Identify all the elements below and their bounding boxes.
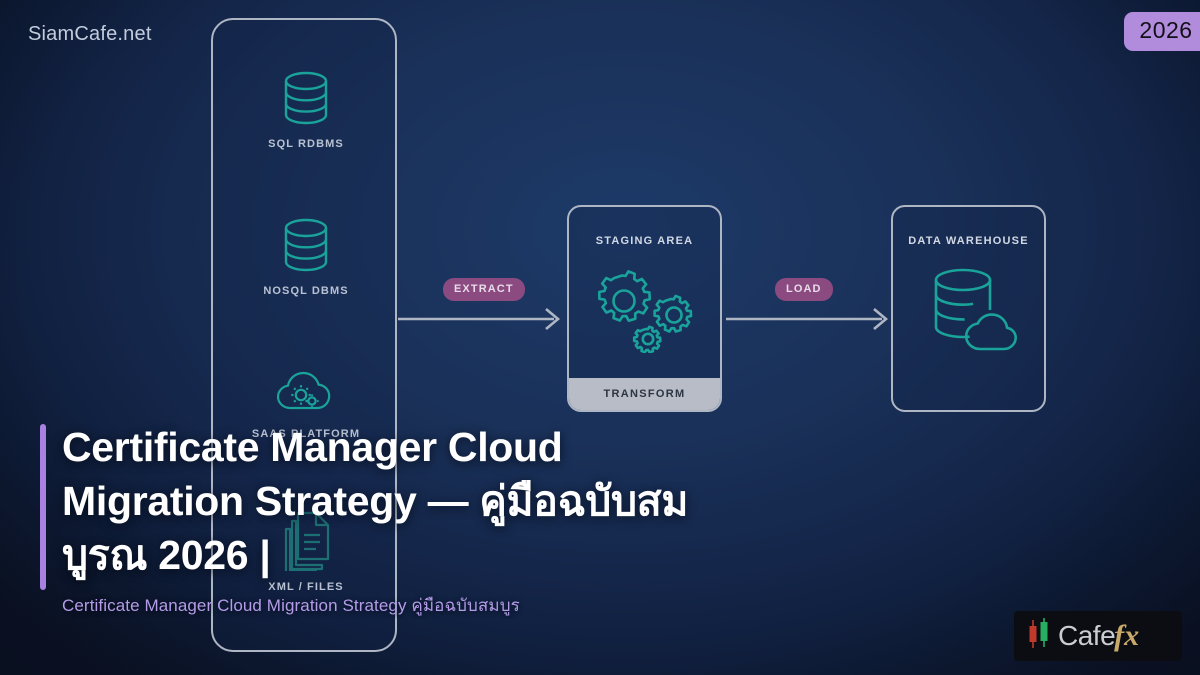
staging-area-panel: STAGING AREA TRANSFORM (567, 205, 722, 412)
gears-icon (569, 261, 720, 358)
brand-logo[interactable]: Cafe fx (1014, 611, 1182, 661)
source-item-nosql: NOSQL DBMS (213, 215, 399, 297)
logo-suffix: fx (1114, 619, 1139, 653)
staging-title: STAGING AREA (569, 235, 720, 247)
arrow-load-icon (726, 305, 898, 338)
database-cloud-icon (893, 265, 1044, 360)
infographic-canvas: SiamCafe.net 2026 SQL RDBMS (0, 0, 1200, 675)
site-watermark: SiamCafe.net (28, 23, 152, 46)
step-badge-extract: EXTRACT (443, 278, 525, 301)
step-badge-load: LOAD (775, 278, 833, 301)
candlestick-icon (1026, 617, 1052, 656)
source-item-sql: SQL RDBMS (213, 68, 399, 150)
arrow-extract-icon (398, 305, 570, 338)
page-subtitle: Certificate Manager Cloud Migration Stra… (62, 592, 730, 619)
data-warehouse-panel: DATA WAREHOUSE (891, 205, 1046, 412)
source-label: SQL RDBMS (213, 138, 399, 150)
page-title: Certificate Manager Cloud Migration Stra… (62, 420, 730, 582)
title-block: Certificate Manager Cloud Migration Stra… (40, 420, 730, 619)
database-icon (213, 68, 399, 128)
database-icon (213, 215, 399, 275)
warehouse-title: DATA WAREHOUSE (893, 235, 1044, 247)
logo-text: Cafe (1058, 622, 1115, 650)
cloud-gear-icon (213, 362, 399, 418)
year-badge: 2026 (1124, 12, 1200, 51)
source-label: NOSQL DBMS (213, 285, 399, 297)
transform-footer: TRANSFORM (569, 378, 720, 410)
